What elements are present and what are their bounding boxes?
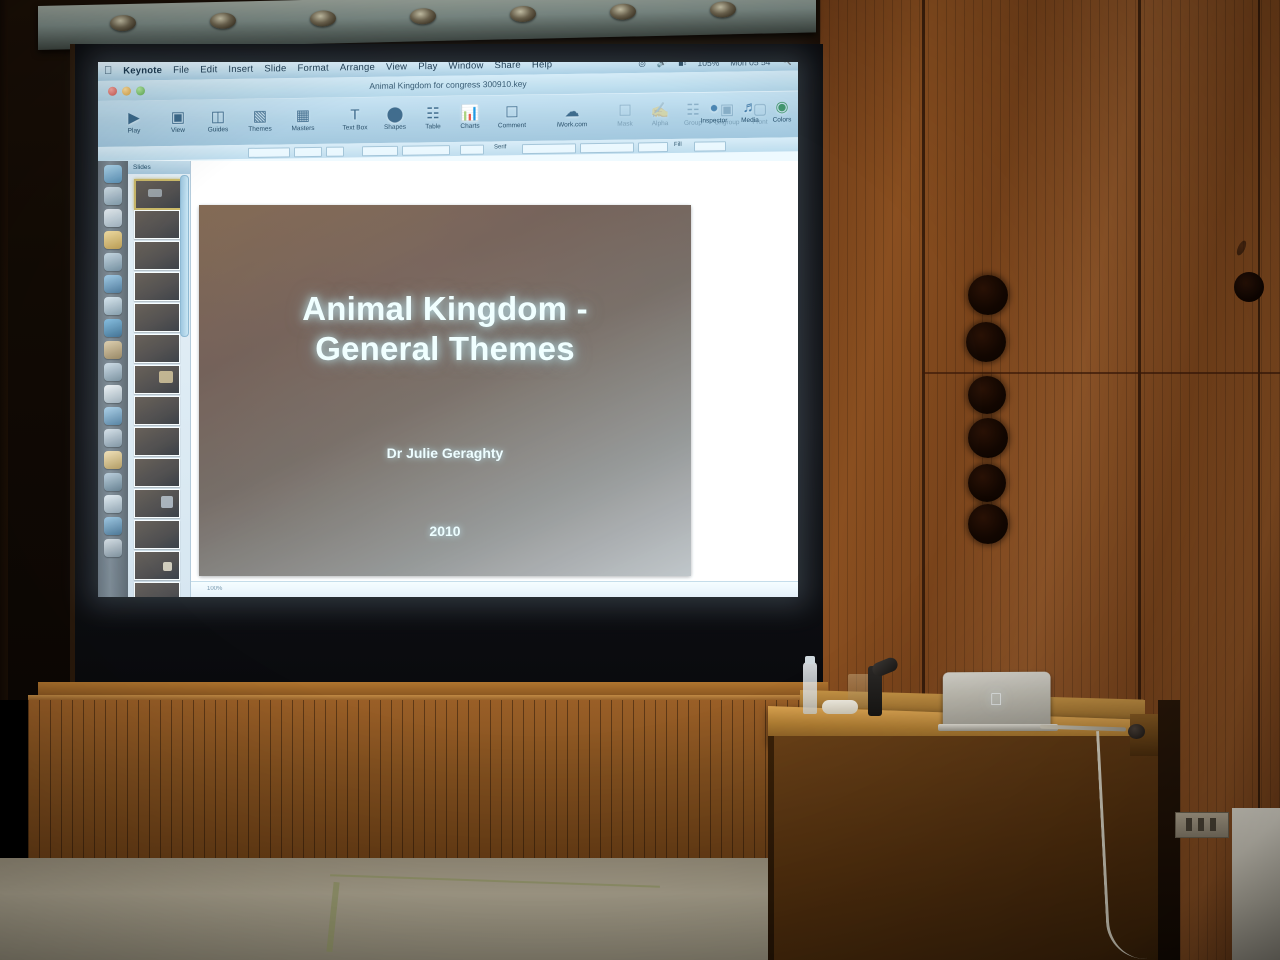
- play-icon: ▶: [112, 108, 156, 127]
- zoom-button[interactable]: [136, 86, 145, 95]
- menu-item-arrange[interactable]: Arrange: [340, 62, 375, 73]
- slide-thumbnail[interactable]: [134, 303, 180, 332]
- dock-icon-app[interactable]: [104, 451, 122, 469]
- mac-dock[interactable]: [98, 161, 128, 597]
- dock-icon-app[interactable]: [104, 385, 122, 403]
- wall-outlet: [1175, 812, 1229, 838]
- menu-item-keynote[interactable]: Keynote: [123, 65, 162, 77]
- thumb-content: [159, 371, 173, 383]
- wall-panel-seam-horizontal: [922, 372, 1280, 374]
- wall-panel-seam: [1258, 0, 1260, 820]
- format-chip[interactable]: [294, 147, 322, 157]
- dock-icon-app[interactable]: [104, 473, 122, 491]
- slide-title-line2: General Themes: [199, 329, 691, 369]
- menu-item-insert[interactable]: Insert: [228, 64, 253, 75]
- rail-hook-icon: [110, 15, 136, 32]
- search-icon[interactable]: 🔍: [781, 62, 792, 67]
- toolbar-button-play[interactable]: ▶ Play: [112, 108, 156, 135]
- close-button[interactable]: [108, 87, 117, 96]
- white-desk-object: [822, 700, 858, 714]
- keynote-body: Slides: [98, 161, 798, 597]
- dock-icon-app[interactable]: [104, 253, 122, 271]
- format-chip[interactable]: [326, 147, 344, 157]
- menu-item-file[interactable]: File: [173, 65, 189, 76]
- menubar-clock[interactable]: Mon 05 54: [730, 62, 770, 67]
- slide-thumbnail[interactable]: [134, 365, 180, 394]
- side-table: [1232, 808, 1280, 960]
- toolbar-label: Colors: [760, 116, 798, 124]
- minimize-button[interactable]: [122, 87, 131, 96]
- screen-mount-rail: [38, 0, 816, 50]
- slide-thumbnail[interactable]: [134, 551, 180, 580]
- dock-icon-safari[interactable]: [104, 319, 122, 337]
- slide-canvas-area[interactable]: Animal Kingdom - General Themes Dr Julie…: [191, 161, 798, 597]
- format-chip[interactable]: [638, 142, 668, 152]
- menu-item-format[interactable]: Format: [298, 63, 329, 74]
- format-chip[interactable]: [522, 143, 576, 154]
- toolbar-button-text-box[interactable]: T Text Box: [333, 105, 377, 132]
- slide-thumbnail[interactable]: [134, 241, 180, 270]
- toolbar-button-guides[interactable]: ◫ Guides: [196, 107, 240, 134]
- toolbar-label: iWork.com: [544, 121, 600, 129]
- format-fill-label: Fill: [674, 142, 682, 148]
- desk-knob: [1128, 724, 1145, 739]
- speaker-dot-icon: [968, 275, 1008, 315]
- battery-icon[interactable]: ■▫: [678, 62, 686, 68]
- toolbar-label: Charts: [448, 122, 492, 130]
- slide-thumbnail[interactable]: [134, 489, 180, 518]
- rail-hook-icon: [510, 6, 536, 23]
- speaker-dot-icon: [968, 418, 1008, 458]
- thumb-content: [161, 496, 173, 508]
- guides-icon: ◫: [196, 107, 240, 126]
- rail-hook-icon: [610, 3, 636, 20]
- navigator-header: Slides: [128, 161, 190, 174]
- dock-icon-app[interactable]: [104, 209, 122, 227]
- toolbar-button-view[interactable]: ▣ View: [156, 108, 200, 135]
- dock-icon-app[interactable]: [104, 187, 122, 205]
- slide-year: 2010: [199, 523, 691, 539]
- masters-icon: ▦: [281, 106, 325, 125]
- toolbar-label: Guides: [196, 126, 240, 134]
- slide-title-line1: Animal Kingdom -: [199, 289, 691, 329]
- toolbar-label: Themes: [238, 125, 282, 133]
- dock-icon-app[interactable]: [104, 275, 122, 293]
- dock-icon-app[interactable]: [104, 495, 122, 513]
- toolbar-label: Play: [112, 127, 156, 135]
- dock-icon-app[interactable]: [104, 429, 122, 447]
- document-title: Animal Kingdom for congress 300910.key: [369, 79, 526, 91]
- comment-icon: ☐: [490, 103, 534, 122]
- floor: [0, 858, 790, 960]
- slide-thumbnail[interactable]: [134, 520, 180, 549]
- floor-seam: [326, 882, 339, 952]
- rail-hook-icon: [310, 10, 336, 27]
- format-font-label: Serif: [494, 144, 506, 150]
- slide-thumbnail[interactable]: [134, 210, 180, 239]
- battery-level: 105%: [697, 62, 719, 68]
- toolbar-label: Masters: [281, 125, 325, 133]
- format-chip[interactable]: [460, 145, 484, 155]
- navigator-scrollbar[interactable]: [180, 175, 189, 337]
- slide-thumbnail[interactable]: [134, 179, 182, 210]
- apple-logo-icon: : [988, 691, 1004, 708]
- toolbar-button-comment[interactable]: ☐ Comment: [490, 103, 534, 130]
- slide-author: Dr Julie Geraghty: [199, 445, 691, 461]
- menu-item-help[interactable]: Help: [532, 62, 552, 71]
- status-bar[interactable]: 100%: [191, 581, 798, 597]
- toolbar-label: View: [156, 127, 200, 135]
- format-chip[interactable]: [362, 146, 398, 157]
- floor-seam: [330, 874, 660, 888]
- zoom-level[interactable]: 100%: [207, 586, 222, 592]
- speaker-dot-icon: [968, 376, 1006, 414]
- speaker-dot-icon: [968, 504, 1008, 544]
- toolbar-button-charts[interactable]: 📊 Charts: [448, 103, 492, 130]
- menu-item-window[interactable]: Window: [449, 62, 484, 72]
- slide-thumbnail[interactable]: [134, 582, 180, 597]
- colors-icon: ◉: [760, 97, 798, 116]
- menu-item-view[interactable]: View: [386, 62, 407, 73]
- speaker-dot-icon: [966, 322, 1006, 362]
- rail-hook-icon: [410, 8, 436, 25]
- format-chip[interactable]: [248, 147, 290, 158]
- toolbar-button-themes[interactable]: ▧ Themes: [238, 106, 282, 133]
- menu-item-slide[interactable]: Slide: [264, 63, 286, 74]
- rail-hook-icon: [210, 13, 236, 30]
- dock-icon-app[interactable]: [104, 231, 122, 249]
- thumb-content: [148, 189, 162, 197]
- thumb-content: [163, 562, 172, 571]
- dock-icon-app[interactable]: [104, 517, 122, 535]
- water-bottle: [803, 662, 817, 714]
- dock-icon-app[interactable]: [104, 363, 122, 381]
- rail-hook-icon: [710, 1, 736, 18]
- speaker-dot-icon: [968, 464, 1006, 502]
- slide-thumbnail[interactable]: [134, 458, 180, 487]
- format-chip[interactable]: [694, 141, 726, 151]
- macbook-laptop[interactable]: : [943, 672, 1051, 727]
- bluetooth-icon[interactable]: ◎: [638, 62, 645, 69]
- lecture-hall-scene:  Keynote File Edit Insert Slide Format …: [0, 0, 1280, 960]
- view-icon: ▣: [156, 108, 200, 127]
- menu-item-play[interactable]: Play: [418, 62, 437, 72]
- current-slide[interactable]: Animal Kingdom - General Themes Dr Julie…: [199, 205, 691, 576]
- menu-item-edit[interactable]: Edit: [200, 64, 217, 75]
- wall-knot-icon: [1234, 272, 1264, 302]
- podium-side-edge: [768, 736, 774, 960]
- slide-thumbnail[interactable]: [134, 272, 180, 301]
- toolbar-button-masters[interactable]: ▦ Masters: [281, 106, 325, 133]
- dock-icon-app[interactable]: [104, 341, 122, 359]
- format-chip[interactable]: [580, 143, 634, 154]
- wainscot-paneling: [28, 700, 823, 860]
- dock-icon-trash[interactable]: [104, 539, 122, 557]
- dock-icon-finder[interactable]: [104, 165, 122, 183]
- projected-keynote-window:  Keynote File Edit Insert Slide Format …: [98, 62, 798, 597]
- toolbar-label: Text Box: [333, 124, 377, 132]
- menubar-spacer: [563, 64, 627, 65]
- charts-icon: 📊: [448, 103, 492, 122]
- format-chip[interactable]: [402, 145, 450, 156]
- dock-icon-app[interactable]: [104, 407, 122, 425]
- text-box-icon: T: [333, 105, 377, 124]
- bottle-cap: [805, 656, 815, 664]
- slide-thumbnail[interactable]: [134, 334, 180, 363]
- dock-icon-app[interactable]: [104, 297, 122, 315]
- apple-icon[interactable]: : [104, 66, 112, 77]
- toolbar-button-colors[interactable]: ◉ Colors: [760, 97, 798, 124]
- slide-title: Animal Kingdom - General Themes: [199, 289, 691, 370]
- iwork-icon: ☁: [544, 102, 600, 121]
- menu-item-share[interactable]: Share: [495, 62, 521, 71]
- toolbar-button-iwork[interactable]: ☁ iWork.com: [544, 102, 600, 129]
- slide-thumbnail[interactable]: [134, 427, 180, 456]
- themes-icon: ▧: [238, 106, 282, 125]
- toolbar-label: Comment: [490, 122, 534, 130]
- slide-thumbnail[interactable]: [134, 396, 180, 425]
- volume-icon[interactable]: 🔊: [657, 62, 668, 69]
- slide-navigator[interactable]: Slides: [128, 161, 191, 597]
